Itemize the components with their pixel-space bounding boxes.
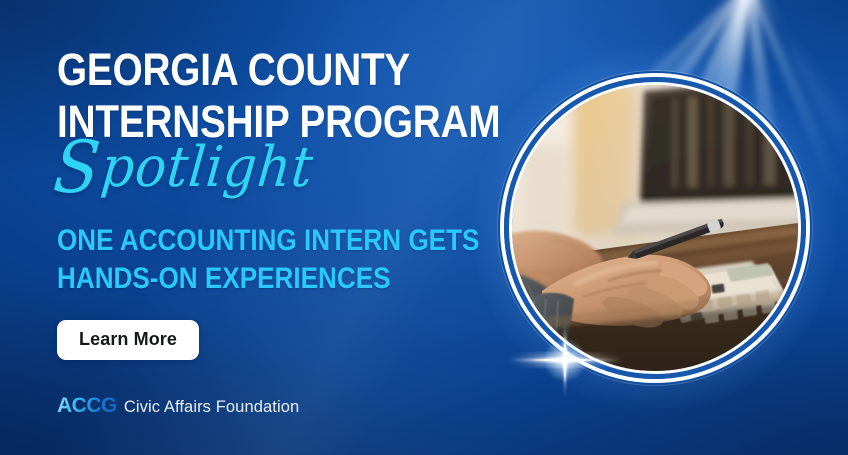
learn-more-button[interactable]: Learn More	[57, 320, 199, 360]
promotional-banner: Georgia County Internship Program Spotli…	[0, 0, 848, 455]
page-title: Georgia County Internship Program	[57, 44, 418, 148]
calculator-hands-photo-icon	[512, 85, 798, 371]
logo-name: Civic Affairs Foundation	[124, 398, 299, 417]
spotlight-rest: potlight	[98, 135, 316, 200]
spotlight-initial: S	[50, 125, 105, 209]
logo-mark-accg: ACCG	[57, 394, 117, 418]
subtitle-line-2: Hands-On Experiences	[57, 260, 422, 298]
spotlight-script-word: Spotlight	[51, 139, 316, 196]
hero-photo	[498, 71, 812, 385]
accg-logo[interactable]: ACCG Civic Affairs Foundation	[57, 394, 299, 418]
subtitle-line-1: One Accounting Intern Gets	[57, 222, 422, 260]
subtitle: One Accounting Intern Gets Hands-On Expe…	[57, 222, 422, 298]
content-column: Georgia County Internship Program Spotli…	[57, 0, 477, 455]
headline-line-1: Georgia County	[57, 44, 418, 96]
photo-clip	[512, 85, 798, 371]
